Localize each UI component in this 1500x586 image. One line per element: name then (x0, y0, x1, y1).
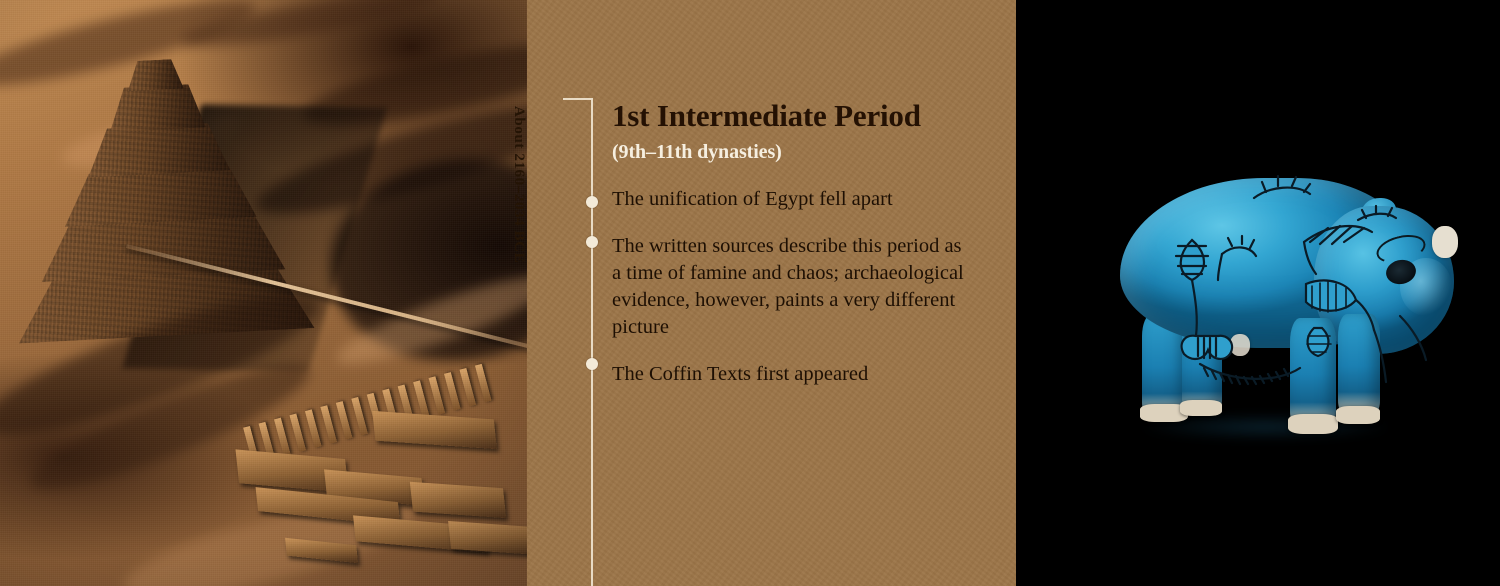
timeline-rail (591, 98, 593, 586)
lotus-painted-decoration (1100, 168, 1458, 458)
timeline-bullet-dot (586, 196, 598, 208)
timeline-bullet-dot (586, 358, 598, 370)
timeline-bracket-cap (563, 98, 593, 100)
blue-faience-hippopotamus-figurine (1016, 0, 1500, 586)
content-panel: About 2160–2034 BCE 1st Intermediate Per… (527, 0, 1016, 586)
timeline-date-text: About 2160–2034 BCE (510, 104, 527, 263)
page-subtitle: (9th–11th dynasties) (612, 141, 782, 164)
slide-root: About 2160–2034 BCE 1st Intermediate Per… (0, 0, 1500, 586)
list-item: The written sources describe this period… (612, 233, 972, 341)
page-title: 1st Intermediate Period (612, 100, 921, 133)
timeline-bullet-dot (586, 236, 598, 248)
list-item: The Coffin Texts first appeared (612, 361, 972, 388)
aerial-photo-step-pyramid-saqqara (0, 0, 527, 586)
timeline-date-label: About 2160–2034 BCE (510, 104, 527, 374)
bullet-list: The unification of Egypt fell apart The … (612, 186, 972, 408)
photo-grain (0, 0, 527, 586)
list-item: The unification of Egypt fell apart (612, 186, 972, 213)
hippopotamus-figurine (1100, 168, 1458, 458)
